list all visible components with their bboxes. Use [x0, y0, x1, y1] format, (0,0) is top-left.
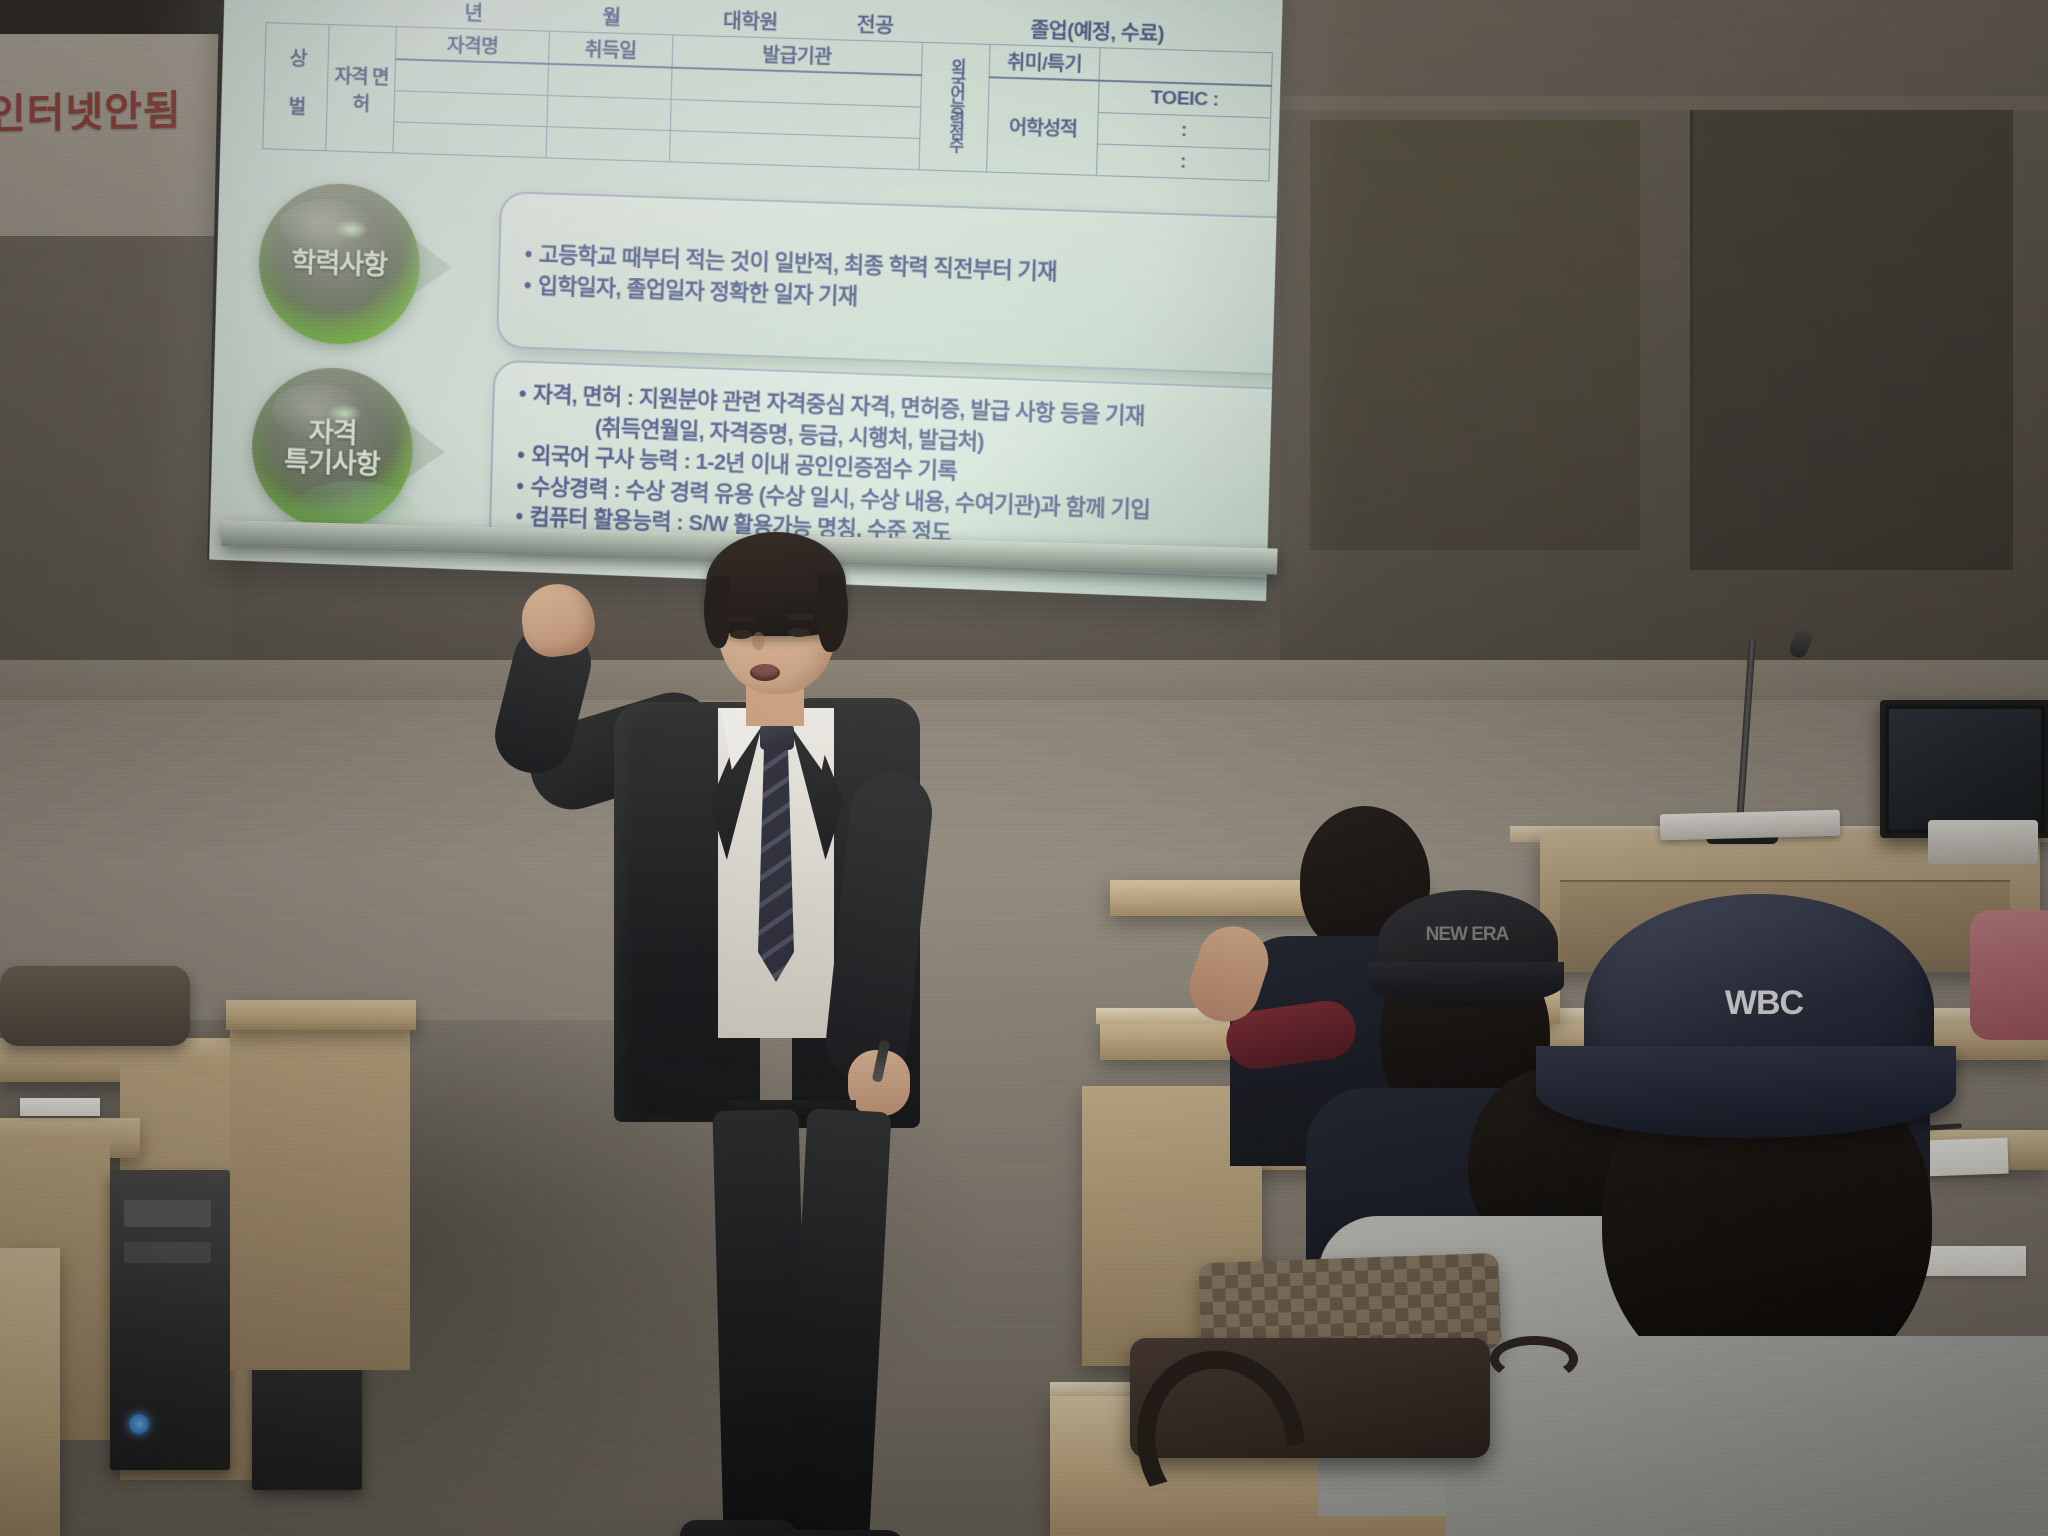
table-top-major: 전공 — [827, 6, 923, 43]
table-cell-blank — [395, 59, 548, 95]
desk-left-3 — [0, 1248, 60, 1536]
table-header-hobby: 취미/특기 — [989, 44, 1100, 80]
wall-notice-text: 인터넷안됨 — [0, 76, 218, 141]
lecturer-hair-side — [818, 574, 848, 652]
table-cell-score-2: : — [1097, 144, 1270, 181]
lecturer-tie — [758, 732, 794, 982]
table-cell-blank — [670, 131, 920, 170]
table-cell-toeic: TOEIC : — [1098, 81, 1271, 118]
table-label-award: 상 벌 — [263, 23, 329, 151]
left-wall-shadow — [0, 0, 232, 34]
lecturer-nose — [752, 632, 765, 650]
table-header-cert-name: 자격명 — [396, 27, 549, 64]
lecturer-eye — [730, 630, 752, 639]
table-cell-blank — [546, 127, 671, 162]
cap-logo: WBC — [1664, 984, 1864, 1023]
table-top-month: 월 — [549, 0, 674, 35]
right-wall-panel — [1310, 120, 1640, 550]
table-cell-blank — [394, 91, 547, 127]
lecturer-trouser-right — [784, 1108, 891, 1536]
bubble-education: •고등학교 때부터 적는 것이 일반적, 최종 학력 직전부터 기재 •입학일자… — [496, 191, 1286, 377]
student-pink-shirt — [1970, 910, 2048, 1040]
lecturer-eyebrow — [728, 616, 756, 622]
table-cell-blank — [548, 64, 673, 100]
lecture-hall-photo: 인터넷안됨 년 월 대학원 전공 졸업(예정, 수료) 상 벌 — [0, 0, 2048, 1536]
desktop-pc-1 — [110, 1170, 230, 1470]
desk-left-panel — [230, 1010, 410, 1370]
left-wall-lower — [0, 236, 232, 706]
bag-on-floor-left — [0, 966, 190, 1046]
projection-screen: 년 월 대학원 전공 졸업(예정, 수료) 상 벌 자격 면허 자격명 취득일 … — [209, 0, 1286, 601]
lecturer-eye — [788, 628, 810, 637]
table-label-license: 자격 면허 — [326, 25, 397, 153]
monitor — [1880, 700, 2048, 838]
table-header-acquire-date: 취득일 — [548, 31, 673, 67]
lecturer — [600, 520, 940, 1536]
cap-brim — [1536, 1046, 1956, 1138]
slide-callout-education: 학력사항 •고등학교 때부터 적는 것이 일반적, 최종 학력 직전부터 기재 … — [257, 181, 1286, 379]
table-cell-blank — [547, 95, 672, 130]
printer — [1928, 820, 2038, 864]
pc-power-led-icon — [129, 1414, 149, 1434]
desk-left-top — [226, 1000, 416, 1030]
cap-logo: NEW ERA — [1392, 924, 1542, 946]
table-top-grad-school: 대학원 — [673, 1, 828, 39]
lecturer-eyebrow — [786, 614, 814, 620]
right-door — [1690, 110, 2013, 570]
pc-drive-bay — [124, 1242, 210, 1263]
bag-handle — [1490, 1336, 1578, 1382]
desk-paper — [20, 1098, 100, 1116]
table-header-language-score: 외국어능력점수 — [919, 42, 991, 172]
table-label-language-result: 어학성적 — [987, 77, 1099, 175]
lecturer-shoe-right — [778, 1530, 906, 1536]
wall-trim — [1280, 96, 2048, 110]
orb-education-label: 학력사항 — [291, 247, 387, 281]
cap-brim — [1368, 962, 1564, 1006]
table-cell-blank — [393, 122, 546, 158]
table-cell-hobby-blank — [1099, 48, 1272, 86]
lecturer-mouth — [750, 664, 780, 681]
orb-education: 학력사항 — [257, 181, 422, 347]
pc-drive-bay — [124, 1200, 210, 1227]
monitor-screen — [1889, 709, 2041, 829]
slide-resume-table: 년 월 대학원 전공 졸업(예정, 수료) 상 벌 자격 면허 자격명 취득일 … — [262, 0, 1274, 182]
lecturer-tie-knot — [760, 724, 794, 750]
lecturer-shoe-left — [680, 1520, 800, 1536]
lecturer-hair-side — [704, 576, 730, 648]
orb-qualification-label: 자격 특기사항 — [284, 416, 381, 480]
keyboard[interactable] — [1660, 810, 1841, 841]
